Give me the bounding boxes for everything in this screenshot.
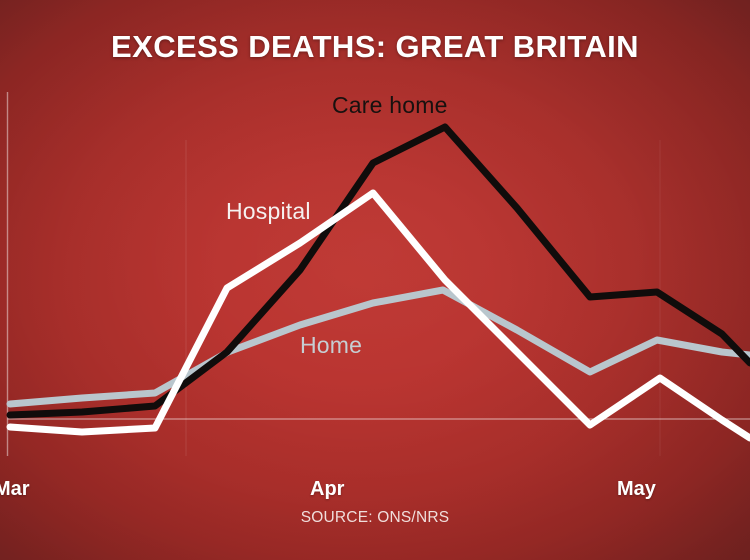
series-label-hospital: Hospital — [226, 198, 311, 225]
line-chart-plot — [0, 0, 750, 560]
series-line-hospital — [10, 193, 750, 438]
source-caption: SOURCE: ONS/NRS — [0, 509, 750, 527]
series-label-care-home: Care home — [332, 92, 448, 119]
page-title: EXCESS DEATHS: GREAT BRITAIN — [0, 30, 750, 64]
x-axis-tick-may: May — [617, 478, 656, 501]
x-axis-tick-apr: Apr — [310, 478, 344, 501]
series-label-home: Home — [300, 332, 362, 359]
chart-canvas: EXCESS DEATHS: GREAT BRITAIN Care home H… — [0, 0, 750, 560]
x-axis-tick-mar: Mar — [0, 478, 30, 501]
series-line-care-home — [10, 127, 750, 415]
series-line-home — [10, 290, 750, 404]
